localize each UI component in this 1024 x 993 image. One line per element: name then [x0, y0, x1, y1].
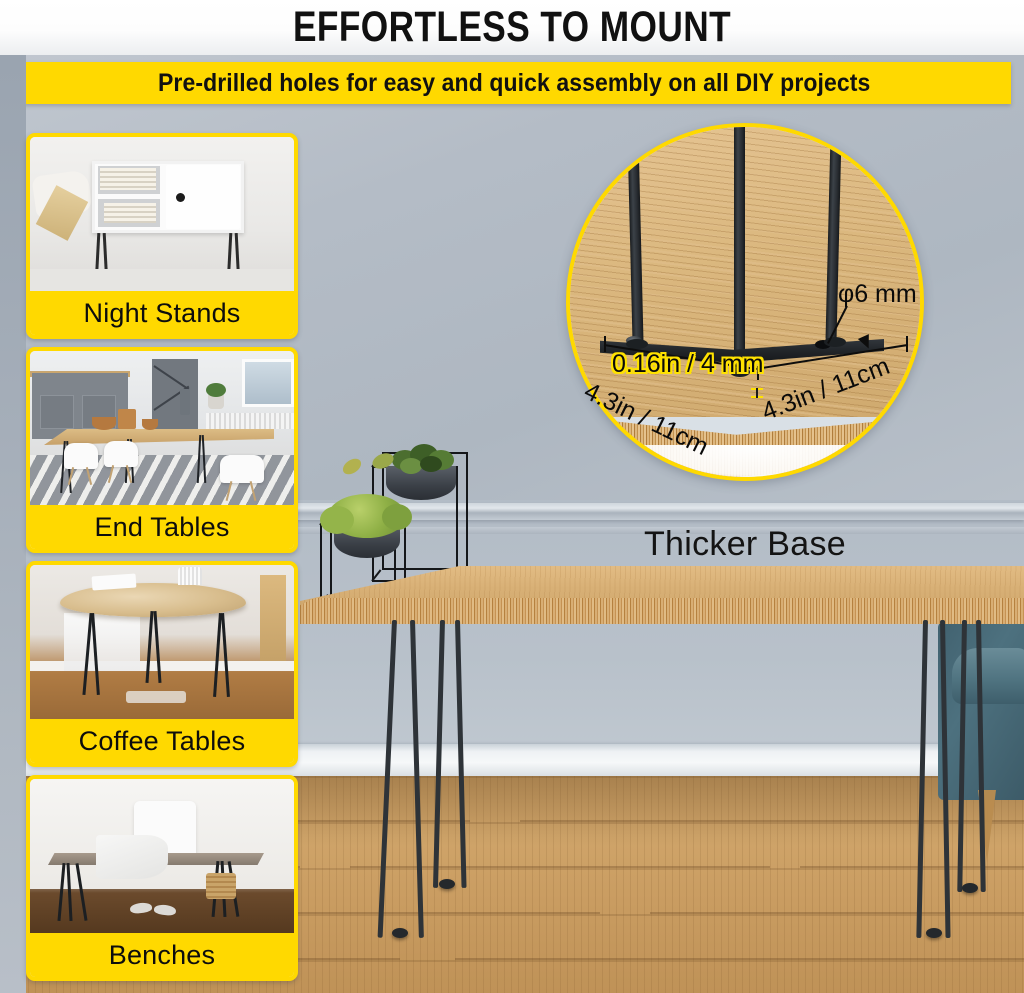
- use-case-card-list: Night Stands: [26, 133, 298, 989]
- card-photo-coffee-tables: [30, 565, 294, 719]
- dimension-tick-right: [906, 336, 908, 352]
- subtitle-banner: Pre-drilled holes for easy and quick ass…: [18, 62, 1011, 104]
- card-label-coffee-tables: Coffee Tables: [30, 719, 294, 763]
- subtitle-text: Pre-drilled holes for easy and quick ass…: [158, 69, 870, 98]
- hairpin-rod-center: [734, 123, 745, 375]
- left-wall-strip: [0, 55, 26, 993]
- dimension-hole-diameter: φ6 mm: [838, 280, 917, 309]
- card-label-text: Coffee Tables: [79, 726, 246, 757]
- thickness-marker-stem: [756, 388, 758, 398]
- use-case-card-night-stands[interactable]: Night Stands: [26, 133, 298, 339]
- planter-pot-upper: [386, 466, 456, 500]
- leg-foot-cap: [926, 928, 942, 938]
- card-label-text: End Tables: [94, 512, 229, 543]
- card-photo-end-tables: [30, 351, 294, 505]
- use-case-card-benches[interactable]: Benches: [26, 775, 298, 981]
- card-label-benches: Benches: [30, 933, 294, 977]
- leg-foot-cap: [392, 928, 408, 938]
- dimension-tick-left: [604, 336, 606, 352]
- card-label-text: Night Stands: [84, 298, 241, 329]
- use-case-card-coffee-tables[interactable]: Coffee Tables: [26, 561, 298, 767]
- leg-foot-cap: [439, 879, 455, 889]
- use-case-card-end-tables[interactable]: End Tables: [26, 347, 298, 553]
- dimension-plate-thickness: 0.16in / 4 mm: [612, 350, 763, 379]
- product-marketing-image: 0.16in / 4 mm 4.3in / 11cm 4.3in / 11cm …: [0, 0, 1024, 993]
- card-photo-night-stands: [30, 137, 294, 291]
- card-label-night-stands: Night Stands: [30, 291, 294, 335]
- card-label-text: Benches: [109, 940, 215, 971]
- callout-caption: Thicker Base: [566, 525, 924, 564]
- callout-highlight: [592, 445, 912, 481]
- card-photo-benches: [30, 779, 294, 933]
- leg-foot-cap: [962, 883, 978, 893]
- page-headline: EFFORTLESS TO MOUNT: [92, 0, 932, 55]
- table-edge-grain: [300, 598, 1024, 624]
- card-label-end-tables: End Tables: [30, 505, 294, 549]
